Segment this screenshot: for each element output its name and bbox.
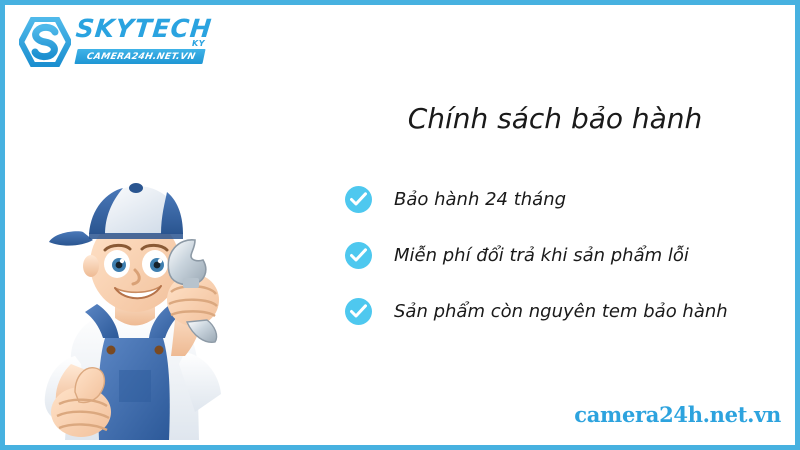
- hexagon-s-icon: [19, 17, 71, 67]
- feature-list: Bảo hành 24 tháng Miễn phí đổi trả khi s…: [345, 171, 785, 339]
- feature-label: Bảo hành 24 tháng: [394, 189, 566, 210]
- check-circle-icon: [345, 186, 372, 213]
- site-banner-text: CAMERA24H.NET.VN: [77, 50, 206, 64]
- warranty-policy-banner: SKYTECH KY CAMERA24H.NET.VN Chính sách b…: [0, 0, 800, 450]
- list-item: Bảo hành 24 tháng: [345, 171, 785, 227]
- list-item: Miễn phí đổi trả khi sản phẩm lỗi: [345, 227, 785, 283]
- feature-label: Miễn phí đổi trả khi sản phẩm lỗi: [394, 245, 689, 266]
- site-watermark: camera24h.net.vn: [574, 402, 781, 427]
- handyman-mascot-illustration: [19, 160, 269, 440]
- list-item: Sản phẩm còn nguyên tem bảo hành: [345, 283, 785, 339]
- check-circle-icon: [345, 242, 372, 269]
- brand-suffix: KY: [192, 39, 205, 48]
- feature-label: Sản phẩm còn nguyên tem bảo hành: [394, 301, 728, 322]
- check-circle-icon: [345, 298, 372, 325]
- brand-logo[interactable]: SKYTECH KY CAMERA24H.NET.VN: [19, 13, 209, 71]
- page-title: Chính sách bảo hành: [335, 102, 775, 135]
- brand-wordmark: SKYTECH KY CAMERA24H.NET.VN: [74, 15, 209, 69]
